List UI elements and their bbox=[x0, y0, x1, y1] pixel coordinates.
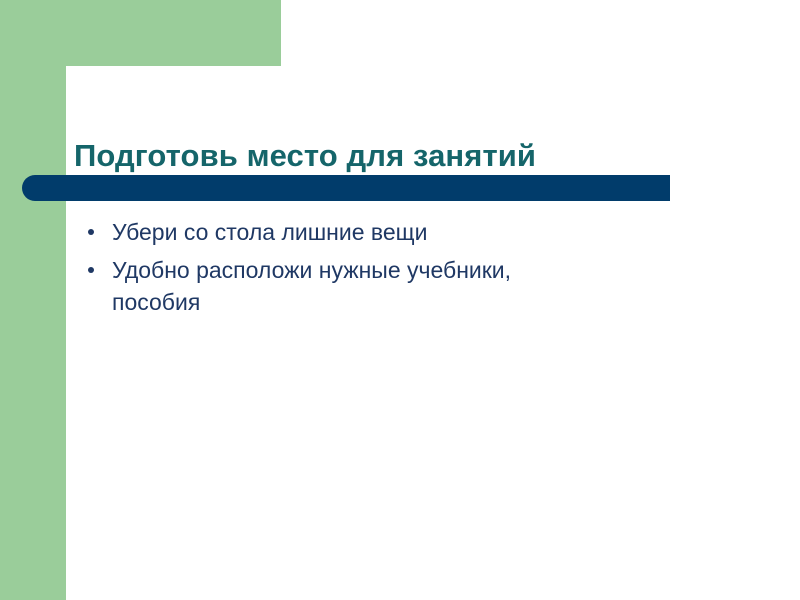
slide-canvas: Подготовь место для занятий Убери со сто… bbox=[0, 0, 800, 600]
bullet-dot-icon bbox=[88, 267, 94, 273]
title-divider-bar bbox=[22, 175, 670, 201]
bullet-dot-icon bbox=[88, 229, 94, 235]
green-left-strip-decoration bbox=[0, 0, 66, 600]
list-item-label: Убери со стола лишние вещи bbox=[112, 216, 567, 248]
list-item: Удобно расположи нужные учебники, пособи… bbox=[84, 254, 704, 318]
bullet-list: Убери со стола лишние вещи Удобно распол… bbox=[84, 216, 704, 324]
list-item: Убери со стола лишние вещи bbox=[84, 216, 704, 248]
green-top-block-decoration bbox=[0, 0, 281, 66]
slide-title: Подготовь место для занятий bbox=[74, 137, 774, 176]
list-item-label: Удобно расположи нужные учебники, пособи… bbox=[112, 254, 567, 318]
